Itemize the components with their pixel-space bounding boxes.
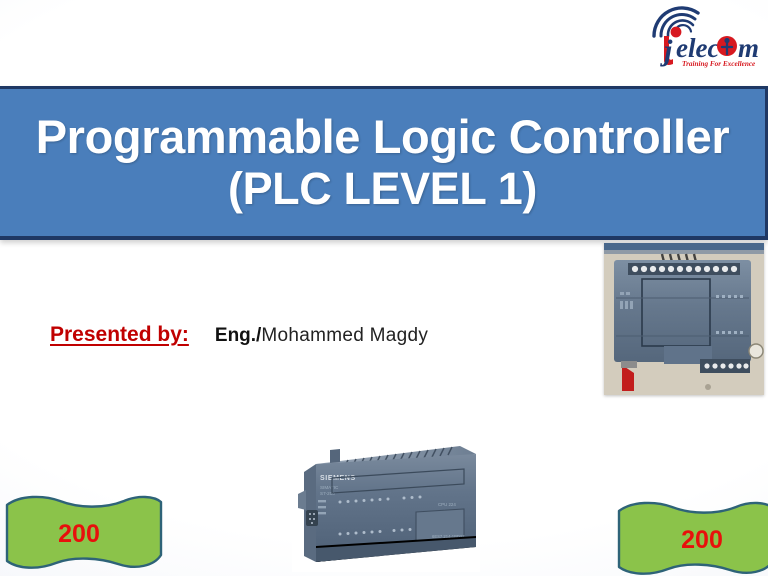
slide-title-line-2: (PLC LEVEL 1) [228,164,537,214]
ribbon-banner-left: 200 [4,492,164,574]
jelecom-logo: j elec m Training For Excellence [648,2,764,68]
svg-text:m: m [738,33,759,63]
jelecom-logo-icon: j elec m Training For Excellence [648,2,764,68]
presenter-row: Presented by: Eng./ Mohammed Magdy [50,323,428,347]
plc-device-photo: SIEMENS SIMATIC S7-200 CPU 224 A [292,424,480,572]
svg-text:j: j [660,34,673,67]
presenter-name: Mohammed Magdy [261,325,428,347]
svg-text:SIMATIC: SIMATIC [320,485,339,490]
logo-tagline: Training For Excellence [682,60,756,68]
ribbon-shape-icon [4,492,164,574]
svg-text:CPU 224: CPU 224 [438,502,456,507]
slide-title-banner: Programmable Logic Controller (PLC LEVEL… [0,86,768,240]
slide-title-line-1: Programmable Logic Controller [36,111,730,164]
ribbon-banner-right: 200 [616,498,768,576]
plc-device-photo-image: SIEMENS SIMATIC S7-200 CPU 224 A [292,424,480,572]
plc-brand-label: SIEMENS [320,475,356,482]
presented-by-label: Presented by: [50,323,189,347]
ribbon-shape-icon [616,498,768,576]
control-panel-photo-image [604,243,764,395]
control-panel-photo [604,243,764,395]
svg-text:elec: elec [676,33,719,63]
presenter-title: Eng./ [215,325,261,347]
presentation-slide: j elec m Training For Excellence Program… [0,0,768,576]
